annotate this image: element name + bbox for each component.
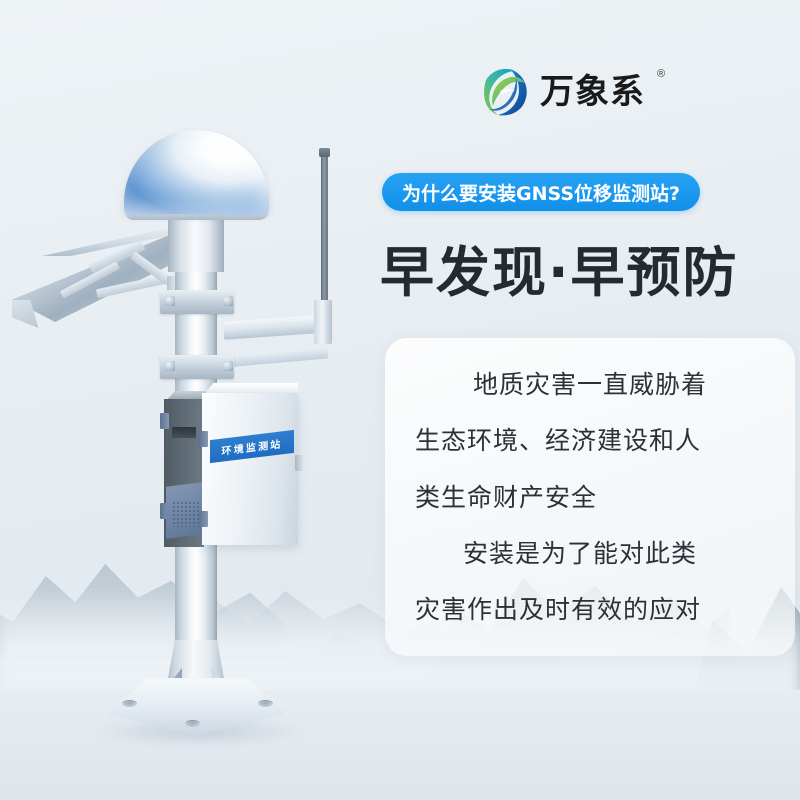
base-bolt-hole-3 (185, 720, 200, 727)
whip-antenna-cap (319, 148, 330, 157)
clamp-nut-1 (165, 296, 175, 306)
description-line-5: 灾害作出及时有效的应对 (411, 597, 769, 622)
control-box-grille-perforations (172, 501, 200, 527)
poster-canvas: 环境监测站 (0, 0, 800, 800)
question-banner: 为什么要安装GNSS位移监测站? (382, 173, 700, 211)
cross-arm-end-bracket (314, 300, 332, 344)
brand-logo: 万象系 ® (480, 66, 665, 118)
description-line-2: 生态环境、经济建设和人 (411, 428, 769, 453)
control-box-hinge-4 (199, 511, 208, 527)
gnss-dome-antenna (124, 130, 269, 214)
question-banner-text: 为什么要安装GNSS位移监测站? (402, 179, 680, 206)
device-name-label: 环境监测站 (222, 435, 283, 457)
cross-arm-lower (224, 347, 328, 367)
description-line-1: 地质灾害一直威胁着 (411, 372, 769, 397)
page-headline: 早发现·早预防 (380, 228, 739, 307)
content-column: 万象系 ® 为什么要安装GNSS位移监测站? 早发现·早预防 地质灾害一直威胁着… (370, 0, 800, 800)
clamp-nut-3 (165, 361, 175, 371)
antenna-neck (168, 216, 224, 272)
description-line-3: 类生命财产安全 (411, 485, 769, 510)
gnss-monitoring-station-illustration: 环境监测站 (0, 0, 420, 800)
clamp-nut-4 (223, 361, 233, 371)
globe-swirl-logo-icon (480, 66, 530, 118)
base-bolt-hole-2 (258, 700, 273, 707)
control-box-front-face (202, 393, 298, 545)
control-box-vent-slot (172, 427, 196, 438)
control-box: 环境监测站 (158, 383, 316, 555)
control-box-hinge-1 (160, 413, 169, 429)
description-card: 地质灾害一直威胁着 生态环境、经济建设和人 类生命财产安全 安装是为了能对此类 … (385, 338, 795, 656)
clamp-nut-2 (223, 296, 233, 306)
base-bolt-hole-1 (122, 700, 137, 707)
description-line-4: 安装是为了能对此类 (411, 541, 769, 566)
registered-trademark-icon: ® (657, 68, 665, 80)
control-box-latch (295, 455, 303, 471)
brand-name: 万象系 (540, 75, 645, 109)
control-box-hinge-3 (199, 431, 208, 447)
